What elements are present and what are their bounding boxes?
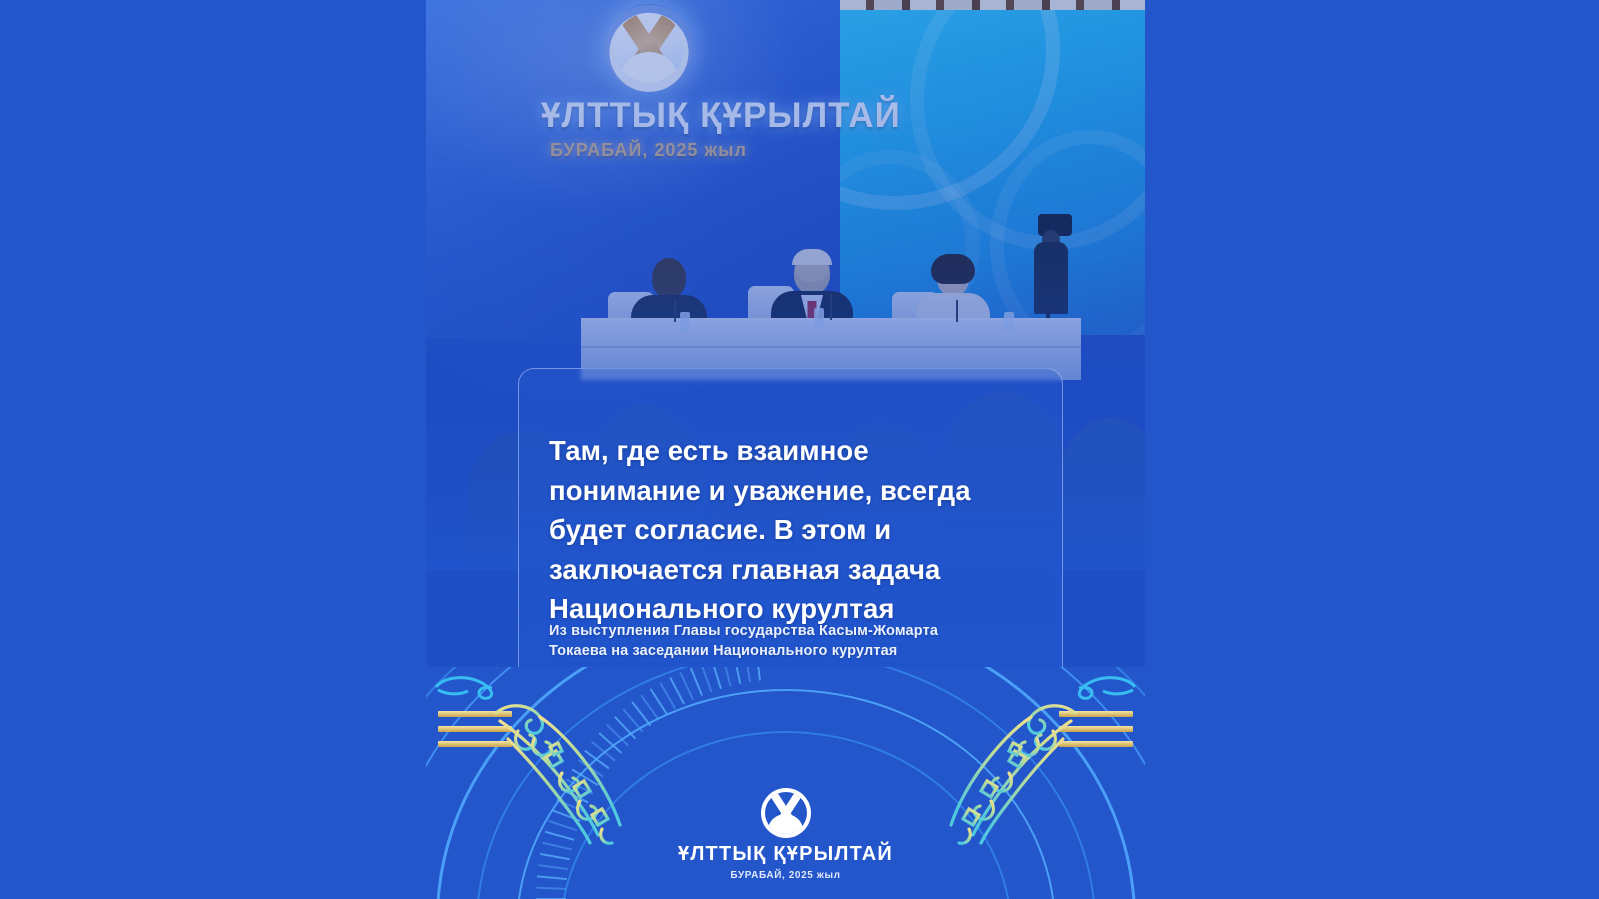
footer-logo-subtitle: БУРАБАЙ, 2025 жыл [426,870,1145,881]
quote-text: Там, где есть взаимное понимание и уваже… [549,431,1028,629]
poster-canvas: ҰЛТТЫҚ ҚҰРЫЛТАЙ БУРАБАЙ, 2025 жыл [0,0,1599,899]
right-letterbox-bar [1145,0,1599,899]
ornament-band: ҰЛТТЫҚ ҚҰРЫЛТАЙ БУРАБАЙ, 2025 жыл [426,667,1145,899]
shanyrak-emblem-icon [761,788,811,838]
footer-logo: ҰЛТТЫҚ ҚҰРЫЛТАЙ БУРАБАЙ, 2025 жыл [426,788,1145,881]
footer-logo-title: ҰЛТТЫҚ ҚҰРЫЛТАЙ [426,843,1145,866]
left-letterbox-bar [0,0,426,899]
quote-card: Там, где есть взаимное понимание и уваже… [518,368,1063,708]
quote-attribution: Из выступления Главы государства Касым-Ж… [549,621,989,662]
poster-content: ҰЛТТЫҚ ҚҰРЫЛТАЙ БУРАБАЙ, 2025 жыл [426,0,1145,899]
